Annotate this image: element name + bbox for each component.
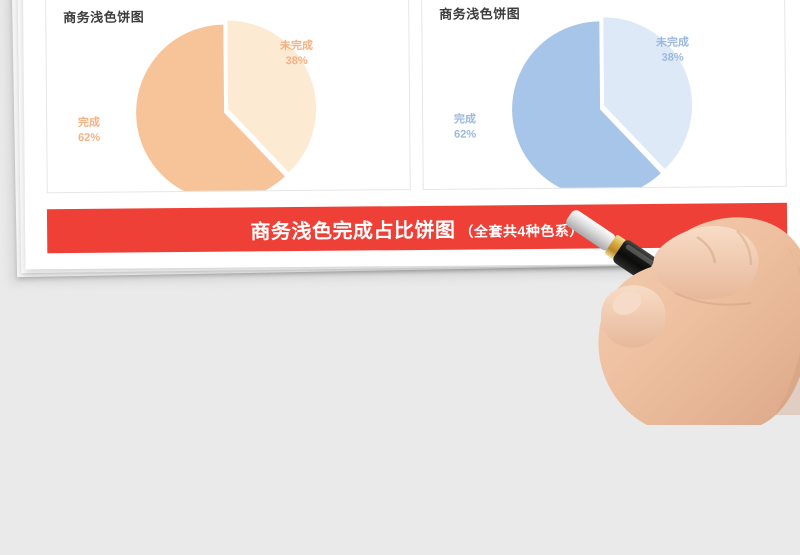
pie-label-incomplete-value: 38% <box>280 54 313 69</box>
pen-cap <box>699 297 778 365</box>
pie-label-incomplete: 未完成 38% <box>656 36 689 66</box>
pie-label-incomplete-name: 未完成 <box>656 37 689 49</box>
chart-card-orange[interactable]: 商务浅色饼图 未完成 38% 完成 62% <box>45 0 411 193</box>
screenshot-root: 商务浅色饼图 未完成 38% 完成 62% <box>0 0 800 555</box>
chart-card-row: 商务浅色饼图 未完成 38% 完成 62% <box>45 0 787 193</box>
pie-label-incomplete: 未完成 38% <box>280 39 313 69</box>
pie-chart-orange[interactable]: 未完成 38% 完成 62% <box>46 0 410 192</box>
pie-chart-blue[interactable]: 未完成 38% 完成 62% <box>422 0 786 189</box>
banner-main-title: 商务浅色完成占比饼图 <box>250 213 455 244</box>
banner-subtitle: （全套共4种色系） <box>459 220 583 241</box>
pie-chart-svg <box>503 4 705 189</box>
pie-label-completed-value: 62% <box>454 127 476 142</box>
pie-label-completed-name: 完成 <box>78 117 100 129</box>
pen-gold-band-middle <box>685 288 718 324</box>
document-content: 商务浅色饼图 未完成 38% 完成 62% <box>23 0 800 269</box>
chart-card-blue[interactable]: 商务浅色饼图 未完成 38% 完成 62% <box>421 0 787 190</box>
thumbnail <box>609 287 646 320</box>
pie-label-incomplete-name: 未完成 <box>280 40 313 52</box>
pie-label-completed-name: 完成 <box>454 113 476 125</box>
thumb <box>601 285 666 347</box>
chart-card-title: 商务浅色饼图 <box>63 6 144 26</box>
finger-crease <box>675 293 751 305</box>
pie-label-completed: 完成 62% <box>78 116 100 146</box>
title-banner: 商务浅色完成占比饼图 （全套共4种色系） <box>47 203 787 253</box>
pen-cap-end-hole <box>760 340 779 363</box>
pie-label-completed: 完成 62% <box>454 112 476 142</box>
pie-label-incomplete-value: 38% <box>656 50 689 65</box>
banner-text: 商务浅色完成占比饼图 （全套共4种色系） <box>250 212 584 244</box>
pie-label-completed-value: 62% <box>78 131 100 146</box>
pen-cap-end <box>753 333 783 367</box>
pen-cap-engraving <box>710 305 762 353</box>
pie-chart-svg <box>127 8 329 193</box>
chart-card-title: 商务浅色饼图 <box>439 3 520 23</box>
